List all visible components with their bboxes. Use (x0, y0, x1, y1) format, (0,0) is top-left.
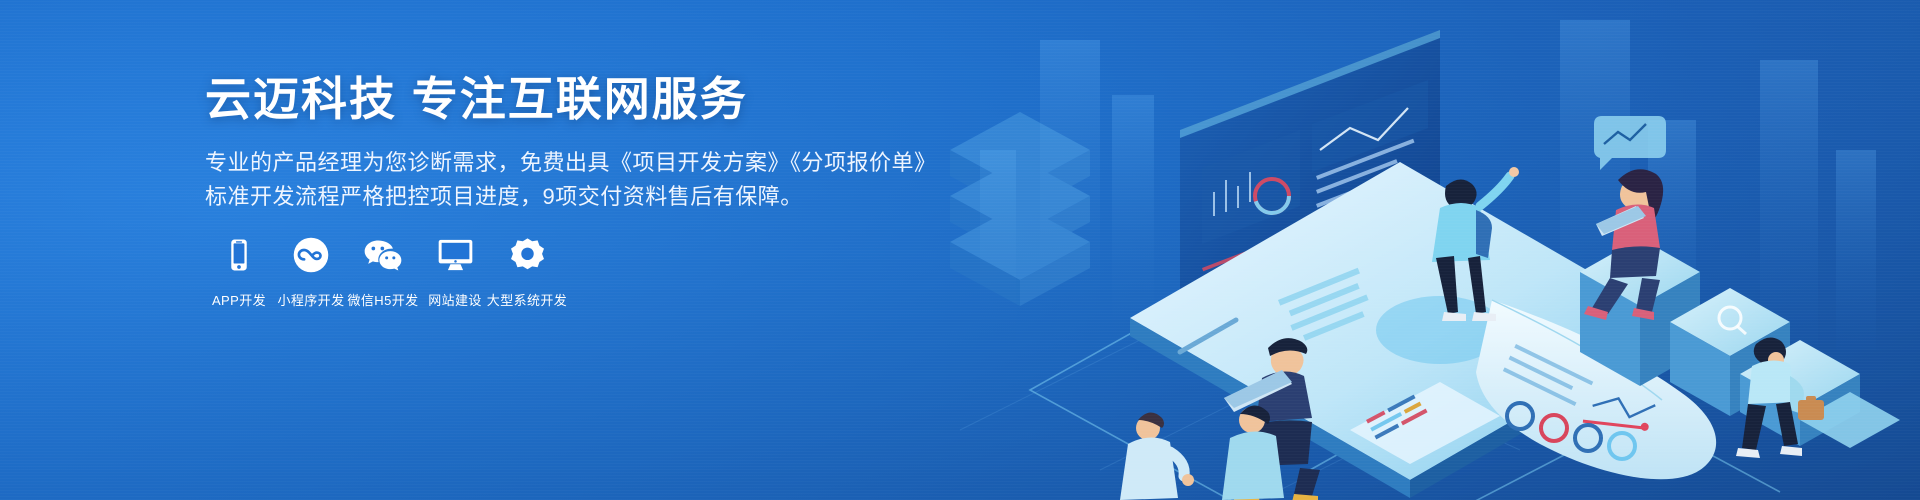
monitor-icon (432, 232, 478, 278)
service-label: 大型系统开发 (487, 290, 567, 309)
hero-banner: 云迈科技 专注互联网服务 专业的产品经理为您诊断需求，免费出具《项目开发方案》《… (0, 0, 1920, 500)
service-item-wechat-h5[interactable]: 微信H5开发 (347, 232, 419, 309)
isometric-illustration (880, 0, 1920, 500)
subtitle-line-1: 专业的产品经理为您诊断需求，免费出具《项目开发方案》《分项报价单》 (205, 146, 937, 180)
banner-content: 云迈科技 专注互联网服务 专业的产品经理为您诊断需求，免费出具《项目开发方案》《… (0, 0, 960, 500)
gear-icon (504, 232, 550, 278)
page-title: 云迈科技 专注互联网服务 (205, 72, 748, 127)
service-icon-list: APP开发 小程序开发 (203, 232, 563, 309)
service-item-website[interactable]: 网站建设 (419, 232, 491, 309)
service-item-miniprogram[interactable]: 小程序开发 (275, 232, 347, 309)
mobile-phone-icon (216, 232, 262, 278)
person-pair (1120, 405, 1284, 500)
wechat-icon (360, 232, 406, 278)
mini-program-icon (288, 232, 334, 278)
subtitle-line-2: 标准开发流程严格把控项目进度，9项交付资料售后有保障。 (205, 180, 803, 214)
service-label: 小程序开发 (277, 290, 344, 309)
service-label: 网站建设 (428, 290, 482, 309)
service-label: 微信H5开发 (347, 290, 418, 309)
service-label: APP开发 (212, 290, 266, 309)
service-item-app[interactable]: APP开发 (203, 232, 275, 309)
service-item-large-system[interactable]: 大型系统开发 (491, 232, 563, 309)
